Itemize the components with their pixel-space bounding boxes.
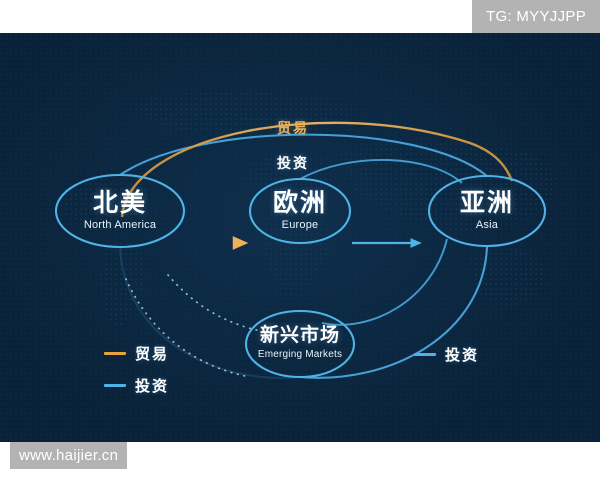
legend-swatch-trade-icon	[104, 352, 126, 355]
diagram-panel: 北美 North America 欧洲 Europe 亚洲 Asia 新兴市场 …	[0, 33, 600, 442]
legend-swatch-investment-icon	[104, 384, 126, 387]
legend-left: 贸易 投资	[104, 343, 169, 396]
watermark-bottom-left: www.haijier.cn	[10, 442, 127, 469]
edge-europe-emerging-dotted	[168, 275, 312, 337]
legend-item-investment-right[interactable]: 投资	[414, 344, 479, 365]
legend-label-investment-right: 投资	[445, 344, 479, 365]
edge-europe-asia-loop	[300, 160, 462, 183]
legend-swatch-investment-right-icon	[414, 353, 436, 356]
legend-item-trade[interactable]: 贸易	[104, 343, 169, 364]
diagram-screenshot: 北美 North America 欧洲 Europe 亚洲 Asia 新兴市场 …	[0, 0, 600, 480]
node-europe-ellipse	[250, 179, 350, 243]
investment-arc-label: 投资	[277, 153, 309, 173]
node-north-america-ellipse	[56, 175, 184, 247]
trade-arc-label: 贸易	[277, 118, 309, 138]
node-emerging-markets-ellipse	[246, 311, 354, 377]
edge-north-america-asia-trade	[122, 123, 512, 217]
legend-label-trade: 贸易	[135, 343, 169, 364]
watermark-top-right: TG: MYYJJPP	[472, 0, 600, 33]
connection-layer	[0, 33, 600, 442]
node-asia-ellipse	[429, 176, 545, 246]
edge-inner-loop-under	[322, 239, 447, 325]
legend-label-investment: 投资	[135, 375, 169, 396]
legend-right: 投资	[414, 344, 479, 365]
legend-item-investment[interactable]: 投资	[104, 375, 169, 396]
